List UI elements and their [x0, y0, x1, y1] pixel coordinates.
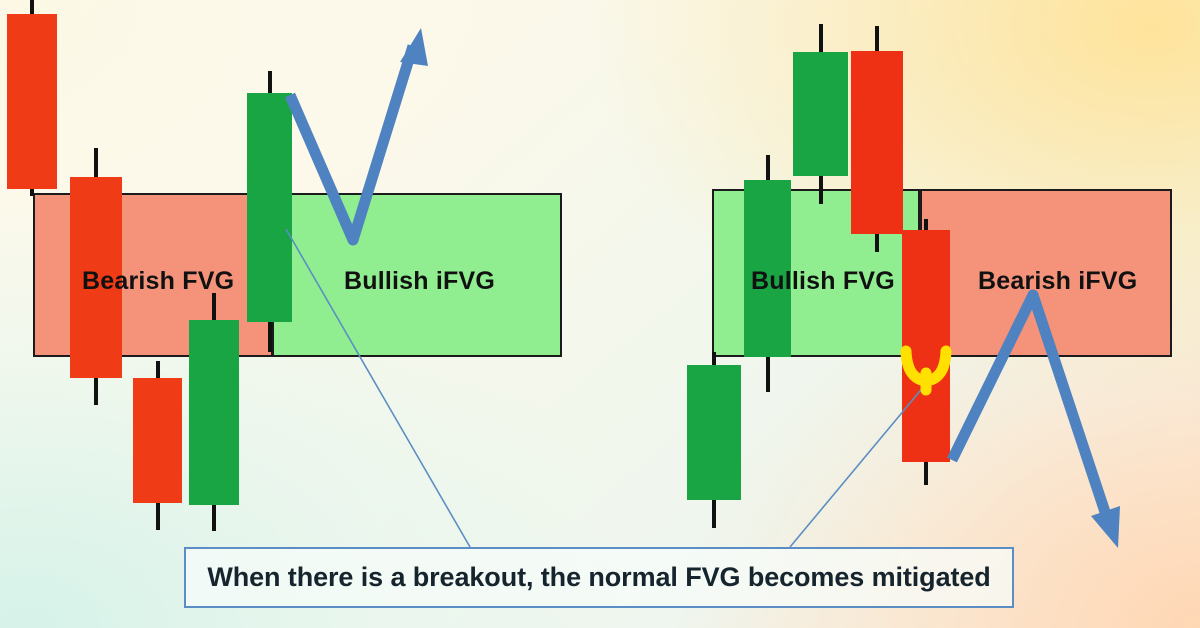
bearish-breakout-arrow — [952, 295, 1120, 548]
caption-box: When there is a breakout, the normal FVG… — [184, 547, 1014, 608]
caption-pointer-right-line — [790, 385, 925, 547]
mitigation-y-marker — [906, 351, 946, 390]
annotation-overlay — [0, 0, 1200, 628]
figure-canvas: Bearish FVG Bullish iFVG Bullish FVG Bea… — [0, 0, 1200, 628]
caption-text: When there is a breakout, the normal FVG… — [207, 562, 990, 593]
caption-pointer-left-line — [286, 229, 470, 547]
bullish-breakout-arrow — [290, 28, 428, 240]
